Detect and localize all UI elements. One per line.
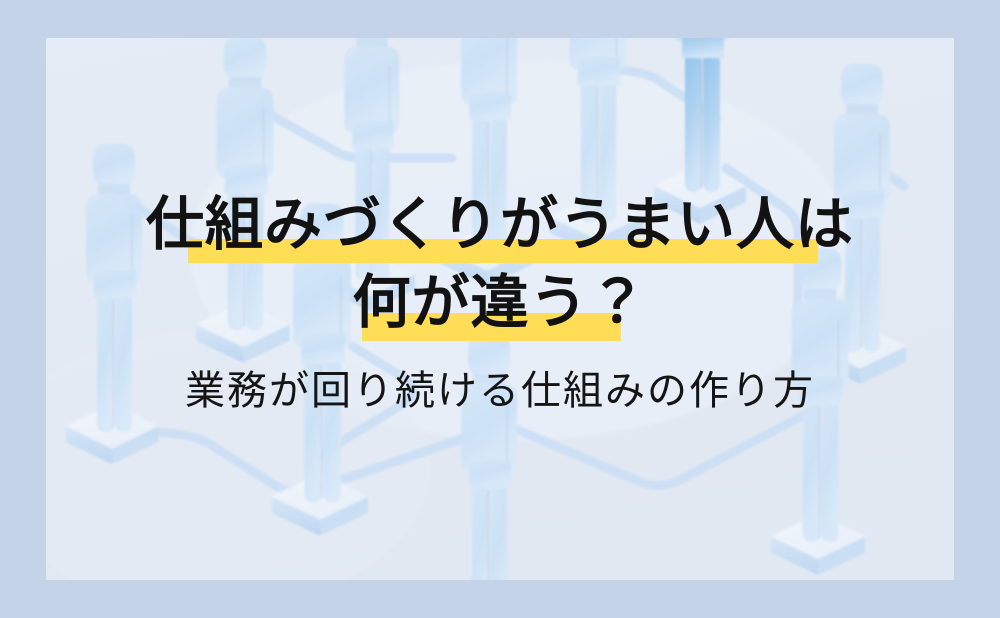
illustration-clip <box>46 38 954 580</box>
illustration-haze <box>46 38 954 580</box>
isometric-people-network-illustration <box>46 38 954 580</box>
inner-panel <box>46 38 954 580</box>
thumbnail-canvas: 仕組みづくりがうまい人は 何が違う？ 業務が回り続ける仕組みの作り方 <box>0 0 1000 618</box>
